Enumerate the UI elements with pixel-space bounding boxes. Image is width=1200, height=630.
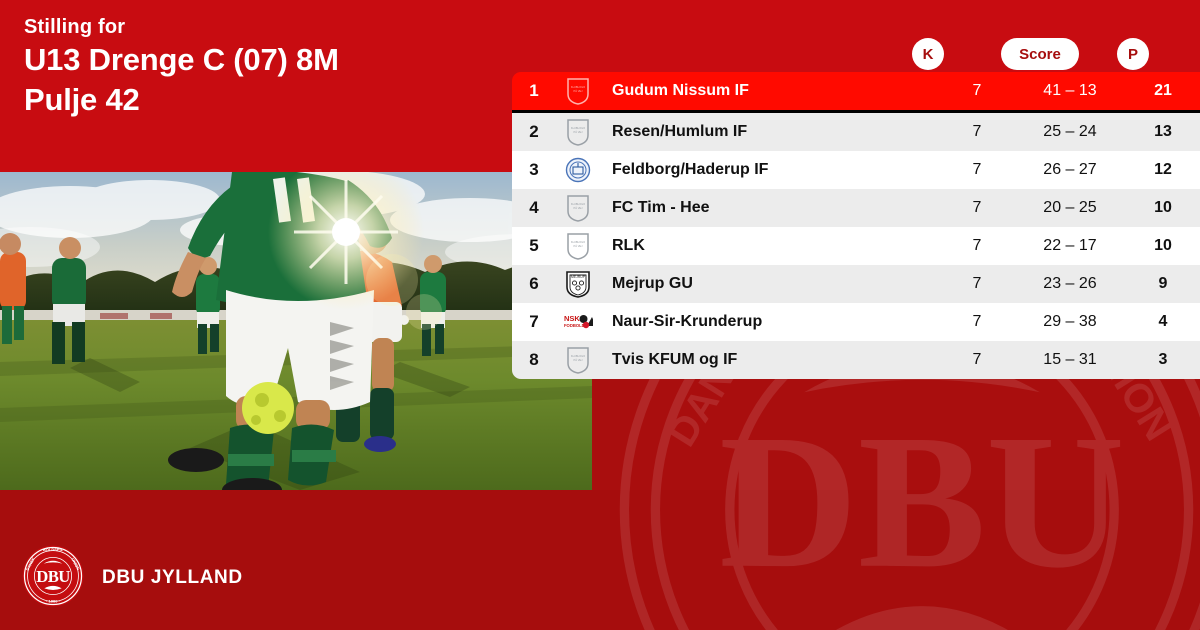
shield-placeholder-icon: KLUBLOGOPÅ VEJ (556, 118, 600, 146)
row-goal-score: 22 – 17 (1014, 237, 1126, 255)
footer-brand: DBU DANSK BOLDSPIL UNION · 1889 · DBU JY… (22, 546, 243, 610)
row-team-name: FC Tim - Hee (600, 199, 940, 217)
column-header-p: P (1117, 38, 1149, 70)
shield-placeholder-icon: KLUBLOGOPÅ VEJ (556, 77, 600, 105)
table-row[interactable]: 6MEJRUPMejrup GU723 – 269 (512, 265, 1200, 303)
row-rank: 6 (512, 274, 556, 294)
footer-label: DBU JYLLAND (102, 567, 243, 589)
row-goal-score: 23 – 26 (1014, 275, 1126, 293)
row-goal-score: 15 – 31 (1014, 351, 1126, 369)
mejrup-crest-icon: MEJRUP (556, 270, 600, 298)
row-rank: 4 (512, 198, 556, 218)
row-points: 10 (1126, 199, 1200, 217)
row-matches-played: 7 (940, 82, 1014, 100)
table-row[interactable]: 1KLUBLOGOPÅ VEJGudum Nissum IF741 – 1321 (512, 72, 1200, 113)
row-points: 13 (1126, 123, 1200, 141)
row-rank: 7 (512, 312, 556, 332)
row-team-name: Mejrup GU (600, 275, 940, 293)
svg-text:FODBOLD: FODBOLD (564, 323, 585, 328)
row-matches-played: 7 (940, 237, 1014, 255)
shield-placeholder-icon: KLUBLOGOPÅ VEJ (556, 346, 600, 374)
row-goal-score: 20 – 25 (1014, 199, 1126, 217)
table-row[interactable]: 3Feldborg/Haderup IF726 – 2712 (512, 151, 1200, 189)
svg-text:KLUBLOGO: KLUBLOGO (571, 240, 585, 244)
svg-text:KLUBLOGO: KLUBLOGO (571, 354, 585, 358)
blue-circle-crest-icon (556, 157, 600, 183)
row-matches-played: 7 (940, 161, 1014, 179)
row-points: 4 (1126, 313, 1200, 331)
row-points: 9 (1126, 275, 1200, 293)
row-team-name: Naur-Sir-Krunderup (600, 313, 940, 331)
table-row[interactable]: 2KLUBLOGOPÅ VEJResen/Humlum IF725 – 2413 (512, 113, 1200, 151)
row-points: 12 (1126, 161, 1200, 179)
svg-text:MEJRUP: MEJRUP (571, 275, 586, 279)
table-row[interactable]: 5KLUBLOGOPÅ VEJRLK722 – 1710 (512, 227, 1200, 265)
row-rank: 2 (512, 122, 556, 142)
dbu-crest-logo: DBU DANSK BOLDSPIL UNION · 1889 · (22, 545, 84, 612)
row-matches-played: 7 (940, 123, 1014, 141)
svg-text:BOLDSPIL: BOLDSPIL (43, 547, 64, 552)
shield-placeholder-icon: KLUBLOGOPÅ VEJ (556, 232, 600, 260)
row-rank: 1 (512, 81, 556, 101)
row-matches-played: 7 (940, 199, 1014, 217)
table-row[interactable]: 8KLUBLOGOPÅ VEJTvis KFUM og IF715 – 313 (512, 341, 1200, 379)
row-goal-score: 26 – 27 (1014, 161, 1126, 179)
row-goal-score: 41 – 13 (1014, 82, 1126, 100)
svg-text:· 1889 ·: · 1889 · (46, 598, 60, 603)
title-kicker: Stilling for (24, 14, 484, 40)
nsk-logo-icon: NSKFODBOLD (556, 312, 600, 332)
row-team-name: Tvis KFUM og IF (600, 351, 940, 369)
row-matches-played: 7 (940, 275, 1014, 293)
row-goal-score: 25 – 24 (1014, 123, 1126, 141)
svg-text:KLUBLOGO: KLUBLOGO (571, 202, 585, 206)
svg-text:NSK: NSK (564, 314, 580, 323)
row-matches-played: 7 (940, 313, 1014, 331)
page-title-line1: U13 Drenge C (07) 8M (24, 40, 484, 80)
row-points: 21 (1126, 82, 1200, 100)
row-team-name: Feldborg/Haderup IF (600, 161, 940, 179)
shield-placeholder-icon: KLUBLOGOPÅ VEJ (556, 194, 600, 222)
column-header-k: K (912, 38, 944, 70)
table-row[interactable]: 4KLUBLOGOPÅ VEJFC Tim - Hee720 – 2510 (512, 189, 1200, 227)
page-title-block: Stilling for U13 Drenge C (07) 8M Pulje … (24, 14, 484, 120)
standings-table: 1KLUBLOGOPÅ VEJGudum Nissum IF741 – 1321… (512, 72, 1200, 379)
row-points: 3 (1126, 351, 1200, 369)
row-team-name: Resen/Humlum IF (600, 123, 940, 141)
football-action-photo (0, 172, 592, 490)
row-team-name: RLK (600, 237, 940, 255)
row-rank: 5 (512, 236, 556, 256)
column-header-score: Score (1001, 38, 1079, 70)
table-row[interactable]: 7NSKFODBOLDNaur-Sir-Krunderup729 – 384 (512, 303, 1200, 341)
row-matches-played: 7 (940, 351, 1014, 369)
table-column-headers: K Score P (512, 38, 1200, 72)
page-title-line2: Pulje 42 (24, 80, 484, 120)
row-goal-score: 29 – 38 (1014, 313, 1126, 331)
svg-text:KLUBLOGO: KLUBLOGO (571, 126, 585, 130)
svg-text:DBU: DBU (36, 567, 70, 586)
row-rank: 8 (512, 350, 556, 370)
row-points: 10 (1126, 237, 1200, 255)
svg-text:KLUBLOGO: KLUBLOGO (571, 85, 585, 89)
row-rank: 3 (512, 160, 556, 180)
row-team-name: Gudum Nissum IF (600, 82, 940, 100)
